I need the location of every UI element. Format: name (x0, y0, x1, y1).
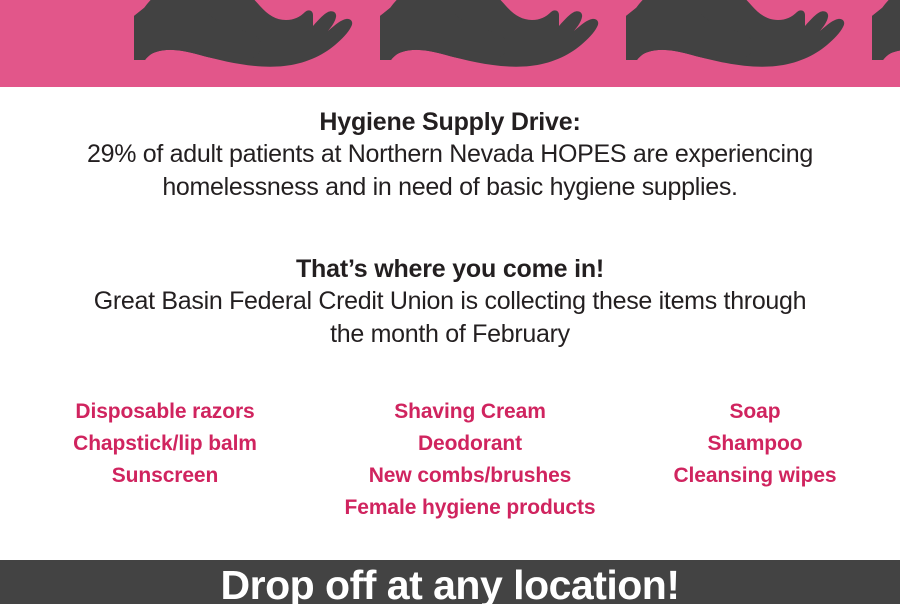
drop-off-bar: Drop off at any location! (0, 560, 900, 604)
action-line-1: Great Basin Federal Credit Union is coll… (0, 285, 900, 318)
list-item: Chapstick/lip balm (0, 428, 330, 460)
hands-banner (0, 0, 900, 87)
supply-items-column-one: Disposable razors Chapstick/lip balm Sun… (0, 396, 330, 492)
action-block: That’s where you come in! Great Basin Fe… (0, 255, 900, 351)
list-item: Soap (610, 396, 900, 428)
giving-hand-icon (600, 0, 850, 87)
giving-hand-icon (354, 0, 604, 87)
list-item: Shampoo (610, 428, 900, 460)
drop-off-text: Drop off at any location! (0, 562, 900, 604)
giving-hand-icon (846, 0, 900, 87)
list-item: Female hygiene products (330, 492, 610, 524)
action-heading: That’s where you come in! (0, 255, 900, 285)
list-item: New combs/brushes (330, 460, 610, 492)
supply-items-row: Disposable razors Chapstick/lip balm Sun… (0, 396, 900, 524)
supply-items-column-three: Soap Shampoo Cleansing wipes (610, 396, 900, 492)
list-item: Shaving Cream (330, 396, 610, 428)
giving-hand-icon (108, 0, 358, 87)
list-item: Disposable razors (0, 396, 330, 428)
list-item: Deodorant (330, 428, 610, 460)
intro-line-2: homelessness and in need of basic hygien… (0, 171, 900, 204)
list-item: Cleansing wipes (610, 460, 900, 492)
list-item: Sunscreen (0, 460, 330, 492)
hygiene-supply-drive-poster: Hygiene Supply Drive: 29% of adult patie… (0, 0, 900, 604)
intro-heading: Hygiene Supply Drive: (0, 108, 900, 138)
intro-line-1: 29% of adult patients at Northern Nevada… (0, 138, 900, 171)
action-line-2: the month of February (0, 318, 900, 351)
intro-block: Hygiene Supply Drive: 29% of adult patie… (0, 108, 900, 204)
supply-items-column-two: Shaving Cream Deodorant New combs/brushe… (330, 396, 610, 524)
